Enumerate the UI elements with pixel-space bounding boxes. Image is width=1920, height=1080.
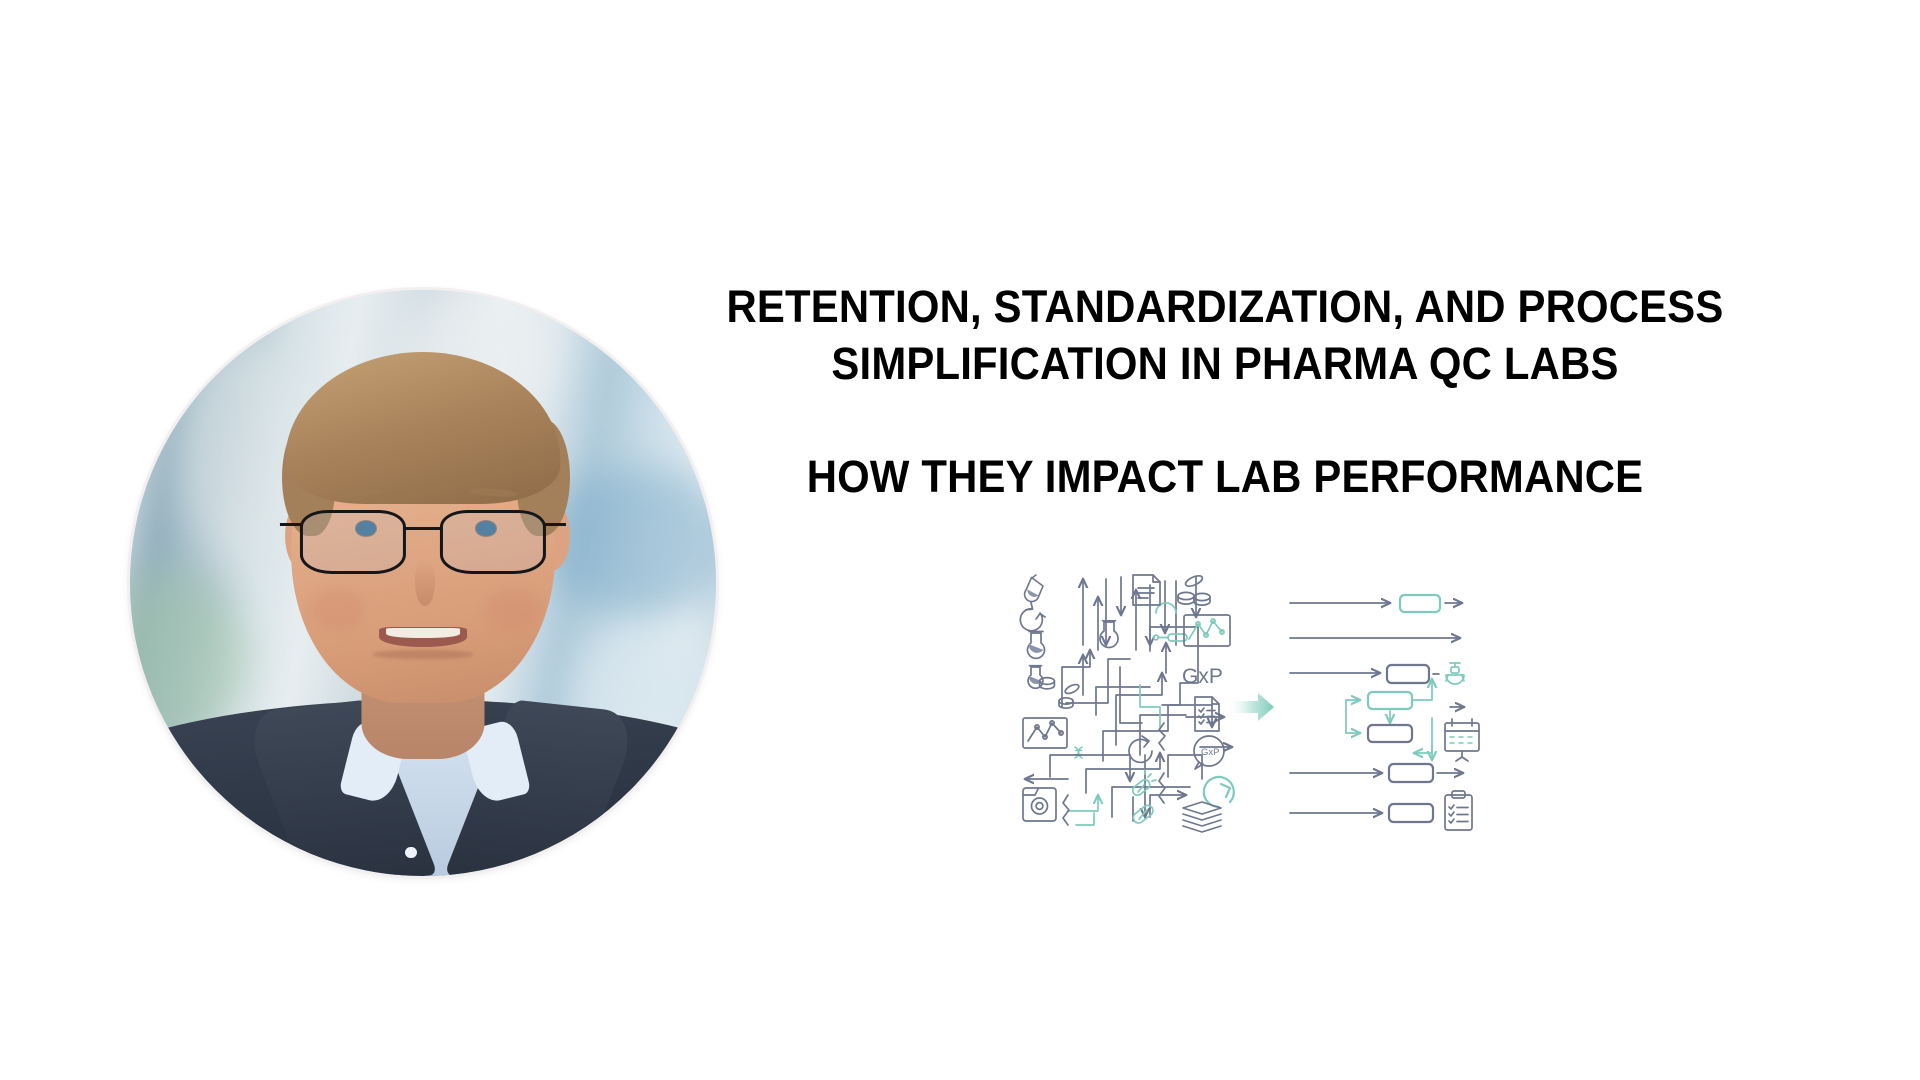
nose [415, 560, 435, 607]
camera-folder-icon [1023, 788, 1056, 821]
slide-canvas: RETENTION, STANDARDIZATION, AND PROCESS … [0, 0, 1920, 1080]
zigzag-arrow-icon [1063, 795, 1069, 825]
eyeglass-lens-right [440, 510, 546, 574]
cheek-left [312, 589, 365, 630]
hair [285, 352, 560, 504]
gxp-bubble-icon: GxP [1194, 736, 1224, 769]
clipboard-icon [1445, 791, 1472, 830]
round-flask-icon [1100, 621, 1118, 648]
eyeglass-lens-left [300, 510, 406, 574]
gxp-label: GxP [1182, 665, 1223, 688]
cheek-right [487, 589, 540, 630]
capsule-icon [1131, 803, 1155, 825]
flask-icon [1028, 666, 1054, 689]
title-line-1: RETENTION, STANDARDIZATION, AND PROCESS [607, 278, 1844, 335]
page-subtitle: HOW THEY IMPACT LAB PERFORMANCE [560, 448, 1890, 505]
pills-icon [1178, 574, 1210, 605]
checklist-document-icon [1195, 697, 1219, 731]
refresh-icon [1204, 777, 1234, 807]
subtitle-line-1: HOW THEY IMPACT LAB PERFORMANCE [607, 448, 1844, 505]
refresh-icon [1020, 603, 1045, 631]
capsule-icon [1131, 770, 1156, 797]
lab-process-illustration: GxP GxP [990, 555, 1510, 855]
svg-text:GxP: GxP [1201, 747, 1219, 758]
transition-arrow-icon [1226, 693, 1274, 721]
eyeglass-temple-left [280, 523, 302, 526]
eyeglass-bridge [403, 527, 442, 531]
dna-icon [1075, 747, 1082, 758]
process-box [1387, 665, 1429, 683]
process-box [1400, 595, 1440, 612]
page-title: RETENTION, STANDARDIZATION, AND PROCESS … [560, 278, 1890, 392]
chart-icon [1184, 615, 1230, 646]
process-box [1389, 804, 1433, 822]
microscope-icon [1446, 663, 1464, 684]
zigzag-arrow-icon [1159, 773, 1165, 803]
shirt-button [405, 847, 416, 858]
process-box [1368, 692, 1412, 709]
process-box [1389, 764, 1433, 782]
document-icon [1133, 575, 1160, 605]
teeth [386, 628, 460, 638]
pipette-icon [1154, 634, 1187, 641]
mouth [379, 627, 467, 647]
flask-icon [1025, 575, 1043, 601]
stack-icon [1183, 802, 1221, 832]
title-line-2: SIMPLIFICATION IN PHARMA QC LABS [607, 335, 1844, 392]
beaker-icon [1028, 632, 1045, 659]
calendar-icon [1445, 719, 1479, 761]
eyeglass-temple-right [544, 523, 566, 526]
process-box [1368, 725, 1412, 742]
chart-icon [1023, 718, 1067, 748]
